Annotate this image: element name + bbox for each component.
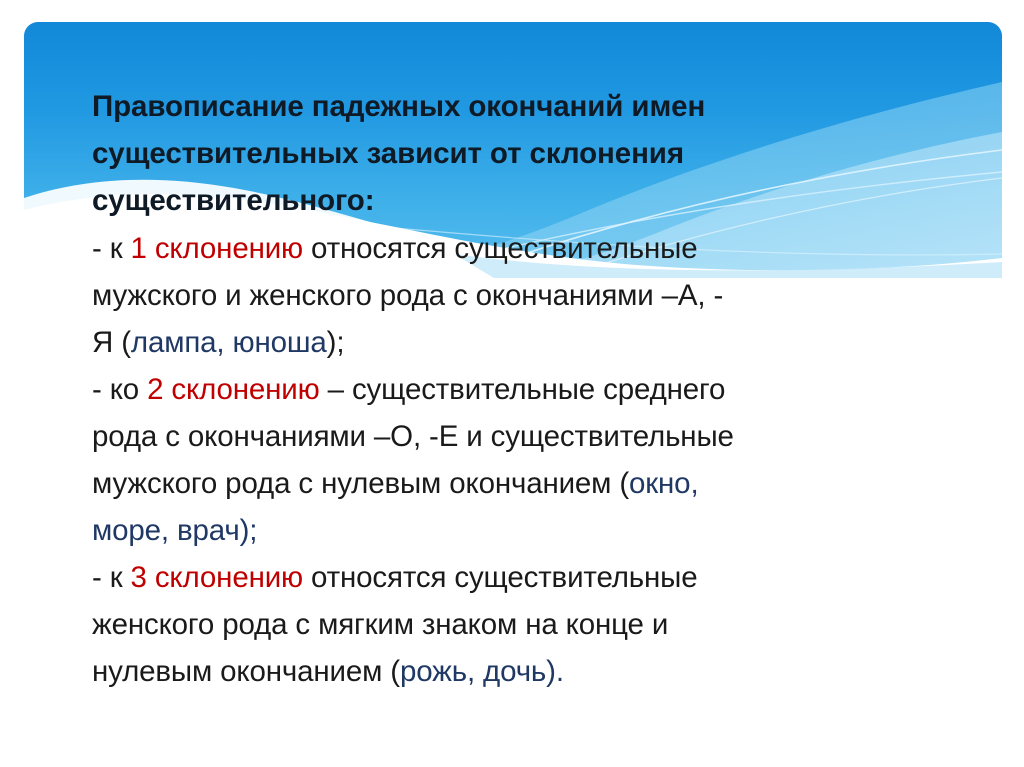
body-run-accent-navy: лампа, юноша — [131, 326, 327, 359]
body-run-accent-navy: море, врач); — [92, 514, 257, 547]
presentation-slide: Правописание падежных окончаний имен сущ… — [0, 0, 1024, 767]
title-line-2: существительных зависит от склонения — [92, 139, 992, 169]
body-run: нулевым окончанием ( — [92, 655, 400, 688]
body-run-accent-red: 1 склонению — [131, 232, 303, 265]
body-line-5: рода с окончаниями –О, -Е и существитель… — [92, 422, 1012, 452]
body-run: относятся существительные — [303, 232, 697, 265]
title-line-1: Правописание падежных окончаний имен — [92, 92, 992, 122]
body-run: - ко — [92, 373, 147, 406]
body-line-10: нулевым окончанием (рожь, дочь). — [92, 657, 1012, 687]
body-run: относятся существительные — [303, 561, 697, 594]
body-run-accent-navy: рожь, дочь). — [400, 655, 564, 688]
body-line-9: женского рода с мягким знаком на конце и — [92, 610, 1012, 640]
body-run: - к — [92, 561, 131, 594]
body-run: женского рода с мягким знаком на конце и — [92, 608, 668, 641]
body-line-6: мужского рода с нулевым окончанием (окно… — [92, 469, 1012, 499]
body-run: рода с окончаниями –О, -Е и существитель… — [92, 420, 734, 453]
body-run: ); — [327, 326, 345, 359]
body-run: - к — [92, 232, 131, 265]
body-run-accent-red: 3 склонению — [131, 561, 303, 594]
slide-text-content: Правописание падежных окончаний имен сущ… — [0, 0, 1024, 767]
body-line-8: - к 3 склонению относятся существительны… — [92, 563, 1012, 593]
body-run: мужского и женского рода с окончаниями –… — [92, 279, 723, 312]
body-run: мужского рода с нулевым окончанием ( — [92, 467, 629, 500]
body-line-4: - ко 2 склонению – существительные средн… — [92, 375, 1012, 405]
title-line-3: существительного: — [92, 186, 992, 216]
body-run: Я ( — [92, 326, 131, 359]
body-line-3: Я (лампа, юноша); — [92, 328, 1012, 358]
body-run-accent-navy: окно, — [629, 467, 698, 500]
body-line-1: - к 1 склонению относятся существительны… — [92, 234, 1012, 264]
body-run: – существительные среднего — [320, 373, 726, 406]
body-line-7: море, врач); — [92, 516, 1012, 546]
body-run-accent-red: 2 склонению — [147, 373, 319, 406]
body-line-2: мужского и женского рода с окончаниями –… — [92, 281, 1012, 311]
